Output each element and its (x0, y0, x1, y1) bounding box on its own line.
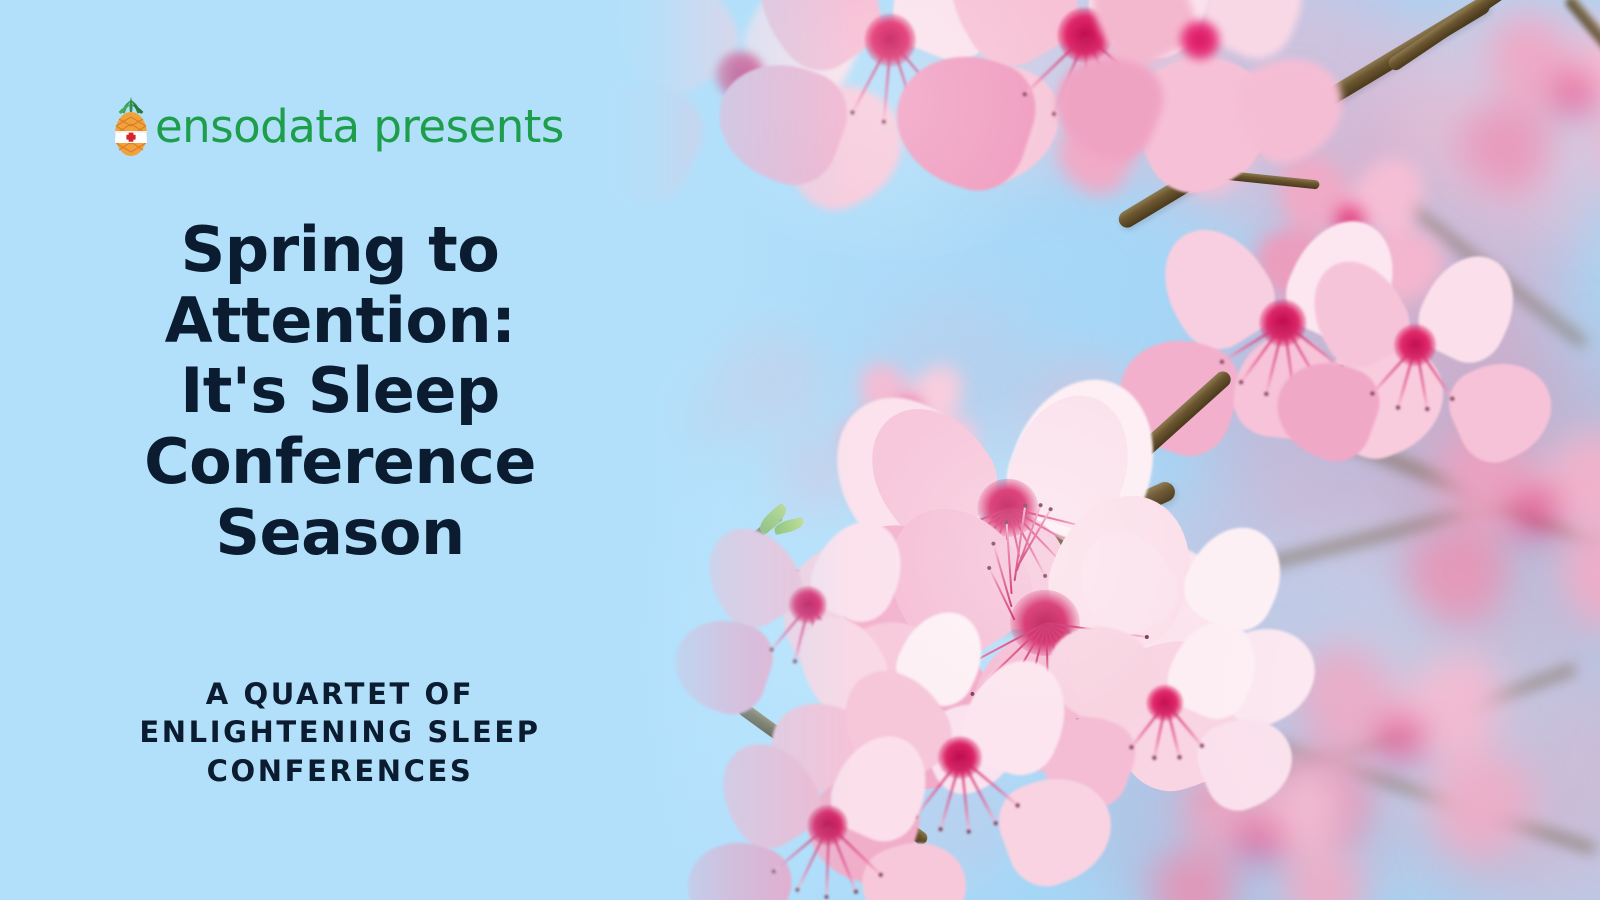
subtitle-line-3: CONFERENCES (60, 752, 620, 790)
headline-line-5: Season (60, 498, 620, 569)
page-title: Spring to Attention: It's Sleep Conferen… (60, 215, 620, 568)
promo-banner: ensodata presents Spring to Attention: I… (0, 0, 1600, 900)
pineapple-nurse-icon (108, 93, 154, 159)
headline-line-2: Attention: (60, 286, 620, 357)
subtitle-line-2: ENLIGHTENING SLEEP (60, 713, 620, 751)
brand-name: ensodata presents (155, 104, 564, 149)
headline-line-1: Spring to (60, 215, 620, 286)
brand-lockup[interactable]: ensodata presents (108, 92, 564, 160)
cherry-blossom-photo (560, 0, 1600, 900)
page-subtitle: A QUARTET OF ENLIGHTENING SLEEP CONFEREN… (60, 675, 620, 790)
headline-line-4: Conference (60, 427, 620, 498)
headline-line-3: It's Sleep (60, 356, 620, 427)
subtitle-line-1: A QUARTET OF (60, 675, 620, 713)
text-panel: ensodata presents Spring to Attention: I… (0, 0, 660, 900)
